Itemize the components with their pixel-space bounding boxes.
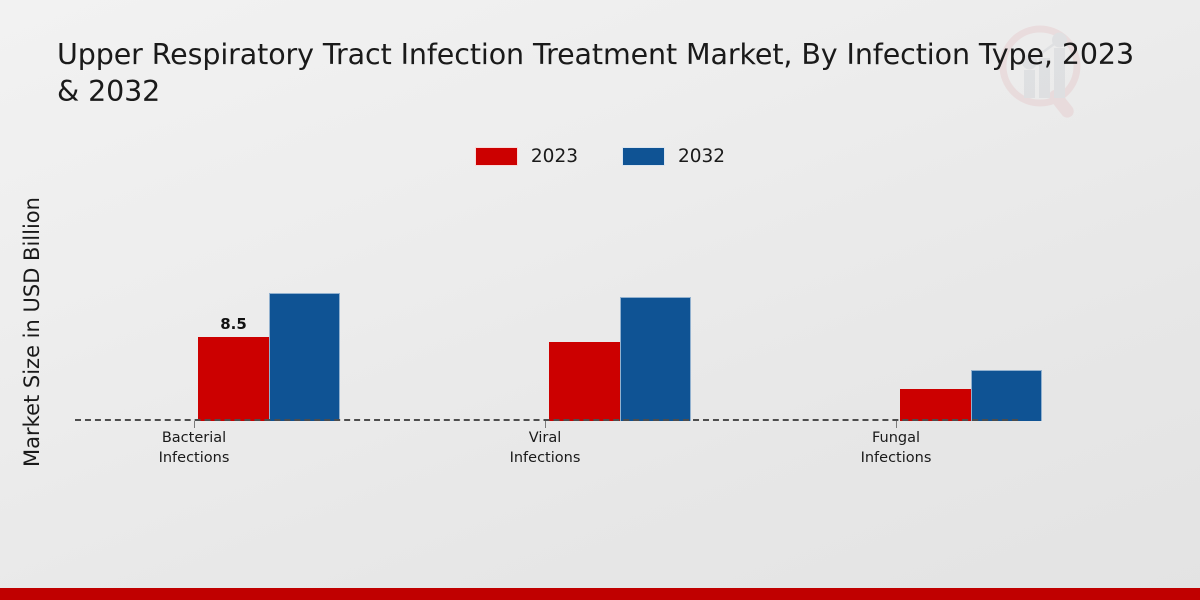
bar-bacterial-2032[interactable] bbox=[269, 293, 340, 421]
bar-bacterial-2023[interactable] bbox=[198, 337, 269, 421]
chart-title: Upper Respiratory Tract Infection Treatm… bbox=[57, 36, 1177, 110]
legend-swatch-2032 bbox=[622, 147, 665, 166]
footer-accent-bar bbox=[0, 588, 1200, 600]
bar-group-fungal bbox=[900, 370, 1042, 421]
bar-group-viral bbox=[549, 297, 691, 421]
axis-baseline bbox=[75, 419, 1018, 421]
plot-area: 8.5 bbox=[75, 180, 1018, 421]
legend-item-2032[interactable]: 2032 bbox=[622, 146, 725, 167]
bar-fungal-2023[interactable] bbox=[900, 389, 971, 421]
bar-group-bacterial bbox=[198, 293, 340, 421]
tick-mark-bacterial bbox=[194, 421, 195, 428]
chart-figure: Upper Respiratory Tract Infection Treatm… bbox=[0, 0, 1200, 600]
tick-mark-fungal bbox=[896, 421, 897, 428]
tick-mark-viral bbox=[545, 421, 546, 428]
bar-viral-2023[interactable] bbox=[549, 342, 620, 421]
bar-viral-2032[interactable] bbox=[620, 297, 691, 421]
category-label-viral: Viral Infections bbox=[435, 428, 655, 468]
legend-swatch-2023 bbox=[475, 147, 518, 166]
legend-label-2023: 2023 bbox=[531, 146, 578, 167]
y-axis-title: Market Size in USD Billion bbox=[20, 122, 44, 542]
legend-item-2023[interactable]: 2023 bbox=[475, 146, 578, 167]
bar-value-bacterial-2023: 8.5 bbox=[198, 315, 269, 333]
bar-fungal-2032[interactable] bbox=[971, 370, 1042, 421]
category-label-bacterial: Bacterial Infections bbox=[84, 428, 304, 468]
legend-label-2032: 2032 bbox=[678, 146, 725, 167]
chart-legend: 2023 2032 bbox=[0, 146, 1200, 167]
category-label-fungal: Fungal Infections bbox=[786, 428, 1006, 468]
